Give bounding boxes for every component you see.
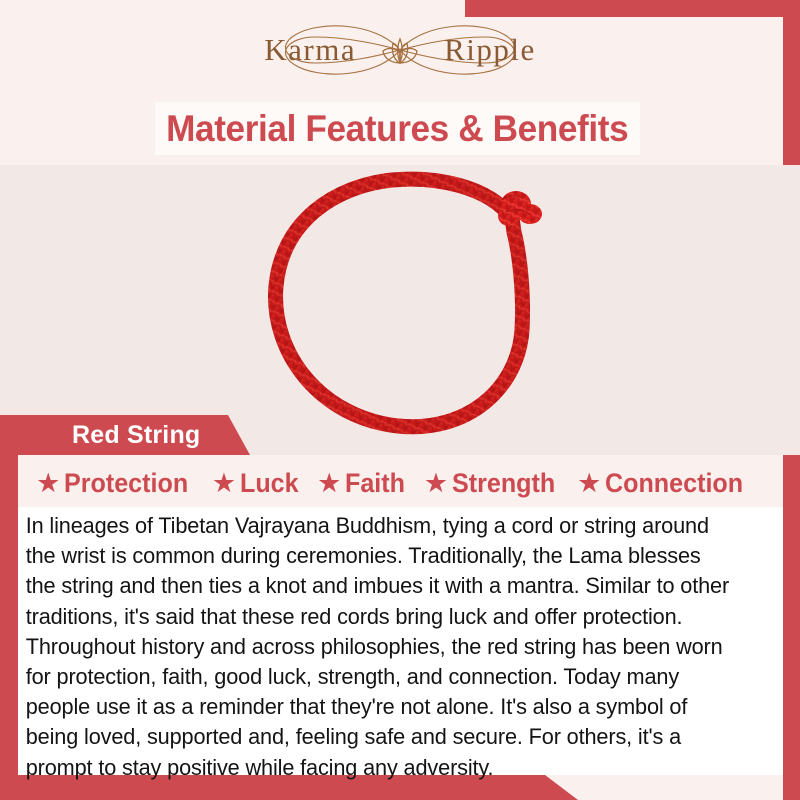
star-icon: ★ <box>317 470 341 497</box>
star-icon: ★ <box>212 470 236 497</box>
feature-label: Luck <box>240 468 299 499</box>
description-text: In lineages of Tibetan Vajrayana Buddhis… <box>18 511 756 783</box>
star-icon: ★ <box>36 470 60 497</box>
feature-label: Strength <box>452 468 555 499</box>
star-icon: ★ <box>424 470 448 497</box>
bracelet-knot <box>498 191 542 226</box>
product-image-panel <box>0 165 800 455</box>
star-icon: ★ <box>577 470 601 497</box>
brand-logo: Karma Ripple <box>0 0 800 100</box>
feature-list: ★ Protection ★ Luck ★ Faith ★ Strength ★… <box>0 462 790 504</box>
material-label-banner: Red String <box>0 415 250 455</box>
brand-name-second: Ripple <box>444 32 536 68</box>
feature-item-luck: ★ Luck <box>212 468 303 499</box>
bracelet-image <box>250 170 570 440</box>
feature-item-connection: ★ Connection <box>577 468 754 499</box>
feature-label: Protection <box>64 468 188 499</box>
description-panel: In lineages of Tibetan Vajrayana Buddhis… <box>18 507 783 775</box>
logo-lockup: Karma Ripple <box>245 19 555 81</box>
feature-label: Connection <box>605 468 743 499</box>
material-label: Red String <box>72 421 200 450</box>
red-string-bracelet-icon <box>250 170 570 440</box>
page-title-box: Material Features & Benefits <box>155 102 640 155</box>
feature-label: Faith <box>345 468 405 499</box>
page-title: Material Features & Benefits <box>166 108 628 150</box>
feature-item-faith: ★ Faith <box>317 468 410 499</box>
brand-name-first: Karma <box>264 32 356 68</box>
infographic-poster: Karma Ripple Material Features & Benefit… <box>0 0 800 800</box>
feature-item-strength: ★ Strength <box>424 468 563 499</box>
feature-item-protection: ★ Protection <box>36 468 198 499</box>
